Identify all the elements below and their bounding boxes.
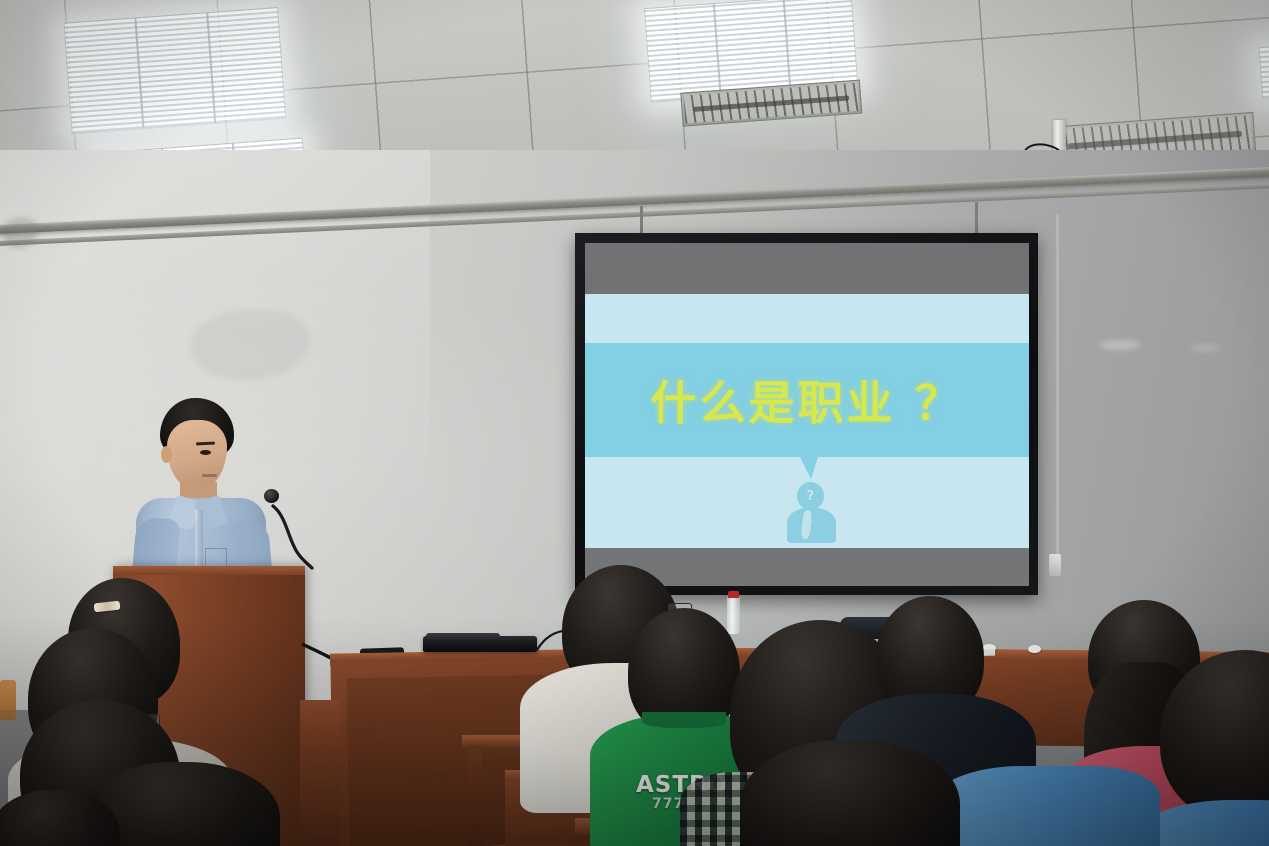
microphone-capsule bbox=[264, 489, 279, 503]
slide-title: 什么是职业 ？ bbox=[585, 343, 1029, 457]
wall-hanging-cord bbox=[1056, 214, 1059, 554]
presenter-mouth bbox=[202, 474, 217, 477]
figure-question-mark: ? bbox=[797, 482, 825, 510]
presenter-ear bbox=[161, 446, 172, 463]
laptop-lid bbox=[426, 633, 500, 640]
wall-fixture bbox=[1049, 554, 1061, 576]
classroom-photo: 什么是职业 ？ ? bbox=[0, 0, 1269, 846]
student-far-bottom-left-head bbox=[0, 790, 120, 846]
student-desk-front-left bbox=[300, 700, 340, 846]
student-blue-right bbox=[1160, 650, 1269, 846]
presenter-face bbox=[167, 420, 227, 490]
figure-head: ? bbox=[797, 482, 825, 510]
projection-screen: 什么是职业 ？ ? bbox=[575, 233, 1038, 595]
lectern-top-edge bbox=[113, 566, 305, 575]
left-edge-object bbox=[0, 680, 16, 720]
speech-bubble-tail-icon bbox=[800, 457, 818, 479]
student-bottom-center bbox=[740, 740, 960, 846]
student-bottom-center-head bbox=[740, 740, 960, 846]
thinking-person-icon: ? bbox=[785, 482, 838, 543]
fluorescent-panel-top-left bbox=[64, 7, 287, 134]
slide-letterbox-top bbox=[585, 243, 1029, 294]
student-bottom-right bbox=[930, 756, 1160, 846]
screen-hanger-right bbox=[975, 202, 978, 234]
student-bottom-right-torso bbox=[930, 766, 1160, 846]
student-far-bottom-left bbox=[0, 790, 120, 846]
student-blue-right-head bbox=[1160, 650, 1269, 822]
figure-body bbox=[787, 508, 836, 543]
microphone-gooseneck bbox=[262, 498, 322, 572]
presenter-eye bbox=[200, 450, 211, 455]
screen-hanger-left bbox=[640, 206, 643, 236]
projection-screen-surface: 什么是职业 ？ ? bbox=[585, 243, 1029, 586]
slide: 什么是职业 ？ ? bbox=[585, 294, 1029, 548]
student-desk-leg-1 bbox=[468, 745, 482, 846]
